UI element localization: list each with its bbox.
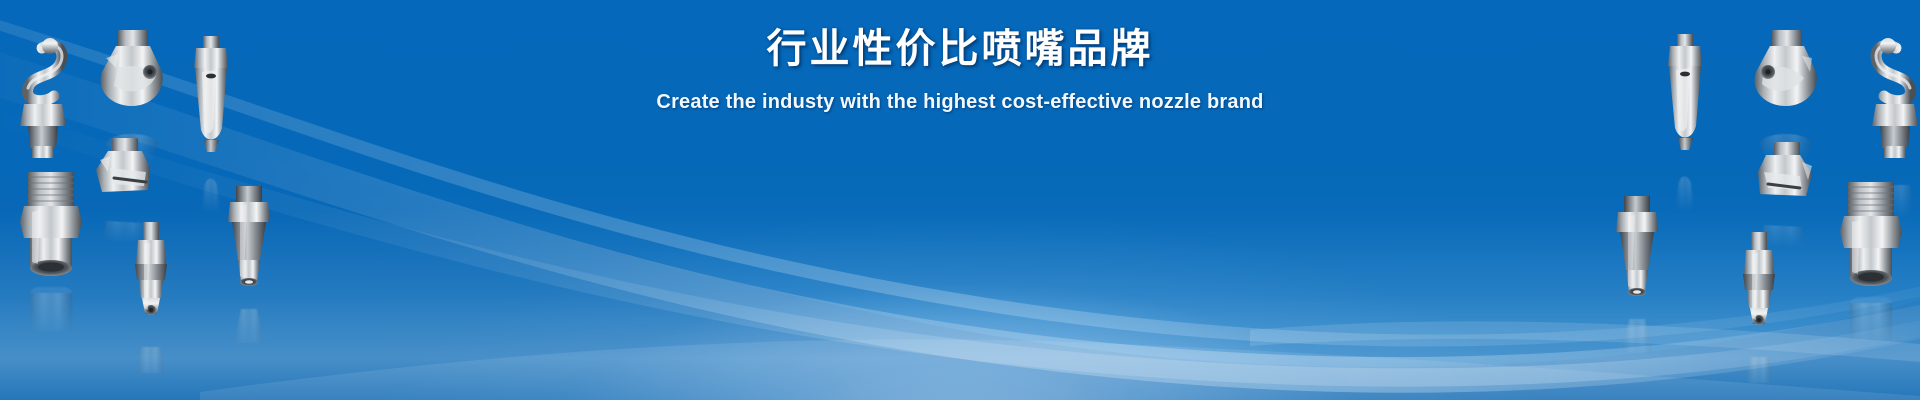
reflection-tapered-nozzle-left bbox=[220, 292, 278, 357]
product-tapered-nozzle-left bbox=[220, 186, 278, 296]
product-air-atomizing-nozzle-left bbox=[128, 222, 174, 328]
product-air-atomizing-nozzle-right bbox=[1736, 232, 1782, 338]
banner-copy: 行业性价比喷嘴品牌 Create the industy with the hi… bbox=[0, 26, 1920, 114]
reflection-air-atomizing-nozzle-right bbox=[1736, 338, 1782, 400]
reflection-full-cone-nozzle-left bbox=[18, 282, 84, 343]
reflection-tapered-nozzle-right bbox=[1608, 302, 1666, 367]
reflection-flat-fan-nozzle-right bbox=[1660, 156, 1710, 217]
banner-headline: 行业性价比喷嘴品牌 bbox=[0, 26, 1920, 73]
product-full-cone-nozzle-right bbox=[1838, 182, 1904, 292]
banner-subheadline: Create the industy with the highest cost… bbox=[0, 91, 1920, 114]
reflection-air-atomizing-nozzle-left bbox=[128, 328, 174, 393]
promotional-banner: 行业性价比喷嘴品牌 Create the industy with the hi… bbox=[0, 0, 1920, 400]
product-full-cone-nozzle-left bbox=[18, 172, 84, 282]
product-deflector-nozzle-left bbox=[90, 138, 156, 204]
reflection-full-cone-nozzle-right bbox=[1838, 292, 1904, 353]
product-deflector-nozzle-right bbox=[1752, 142, 1818, 208]
product-tapered-nozzle-right bbox=[1608, 196, 1666, 306]
